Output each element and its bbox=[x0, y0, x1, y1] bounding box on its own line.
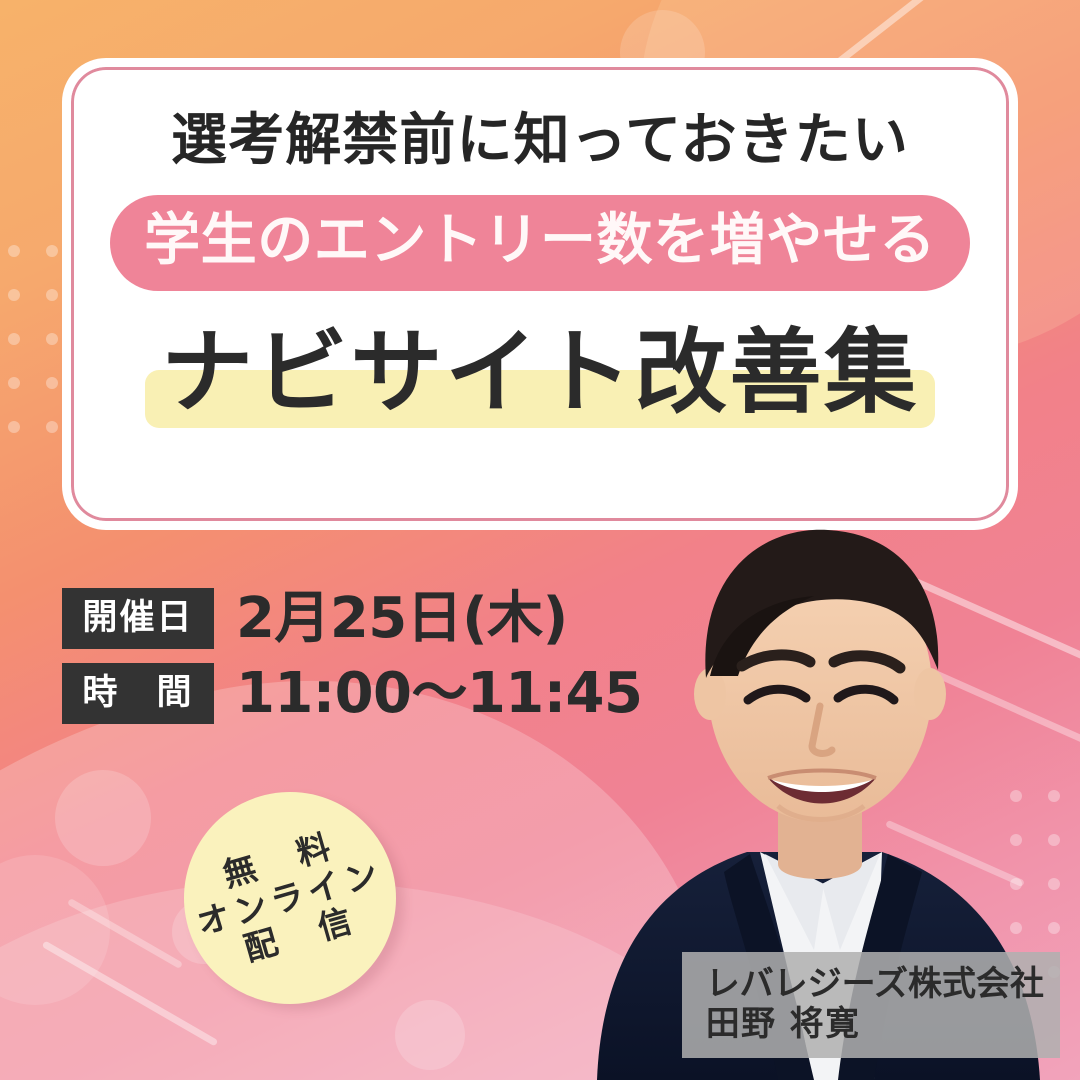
dot bbox=[46, 421, 58, 433]
webinar-poster: 選考解禁前に知っておきたい 学生のエントリー数を増やせる ナビサイト改善集 開催… bbox=[0, 0, 1080, 1080]
info-value-time: 11:00〜11:45 bbox=[236, 666, 642, 722]
speaker-name-plate: レバレジーズ株式会社 田野 将寛 bbox=[682, 952, 1060, 1058]
free-online-badge: 無 料 オンライン 配 信 bbox=[159, 767, 421, 1029]
dot bbox=[46, 245, 58, 257]
decorative-diagonal-line bbox=[67, 898, 183, 969]
headline-card: 選考解禁前に知っておきたい 学生のエントリー数を増やせる ナビサイト改善集 bbox=[62, 58, 1018, 530]
decorative-circle bbox=[55, 770, 151, 866]
main-title: ナビサイト改善集 bbox=[161, 325, 919, 422]
dot bbox=[46, 377, 58, 389]
card-headline: 選考解禁前に知っておきたい bbox=[171, 113, 909, 169]
info-value-date: 2月25日(木) bbox=[236, 591, 568, 647]
dot bbox=[8, 333, 20, 345]
speaker-company: レバレジーズ株式会社 bbox=[706, 964, 1044, 1004]
speaker-name: 田野 将寛 bbox=[706, 1004, 1044, 1044]
main-title-wrapper: ナビサイト改善集 bbox=[149, 325, 931, 422]
dot-grid-pattern-left bbox=[8, 245, 68, 445]
dot bbox=[8, 377, 20, 389]
dot bbox=[8, 289, 20, 301]
dot bbox=[8, 245, 20, 257]
decorative-circle bbox=[0, 855, 110, 1005]
info-row-date: 開催日 2月25日(木) bbox=[62, 588, 642, 649]
decorative-circle bbox=[395, 1000, 465, 1070]
dot bbox=[46, 289, 58, 301]
card-subtitle-pill: 学生のエントリー数を増やせる bbox=[110, 195, 970, 291]
dot bbox=[8, 421, 20, 433]
event-info-block: 開催日 2月25日(木) 時 間 11:00〜11:45 bbox=[62, 588, 642, 724]
decorative-diagonal-line bbox=[42, 940, 219, 1046]
info-row-time: 時 間 11:00〜11:45 bbox=[62, 663, 642, 724]
info-label-date: 開催日 bbox=[62, 588, 214, 649]
info-label-time: 時 間 bbox=[62, 663, 214, 724]
dot bbox=[46, 333, 58, 345]
